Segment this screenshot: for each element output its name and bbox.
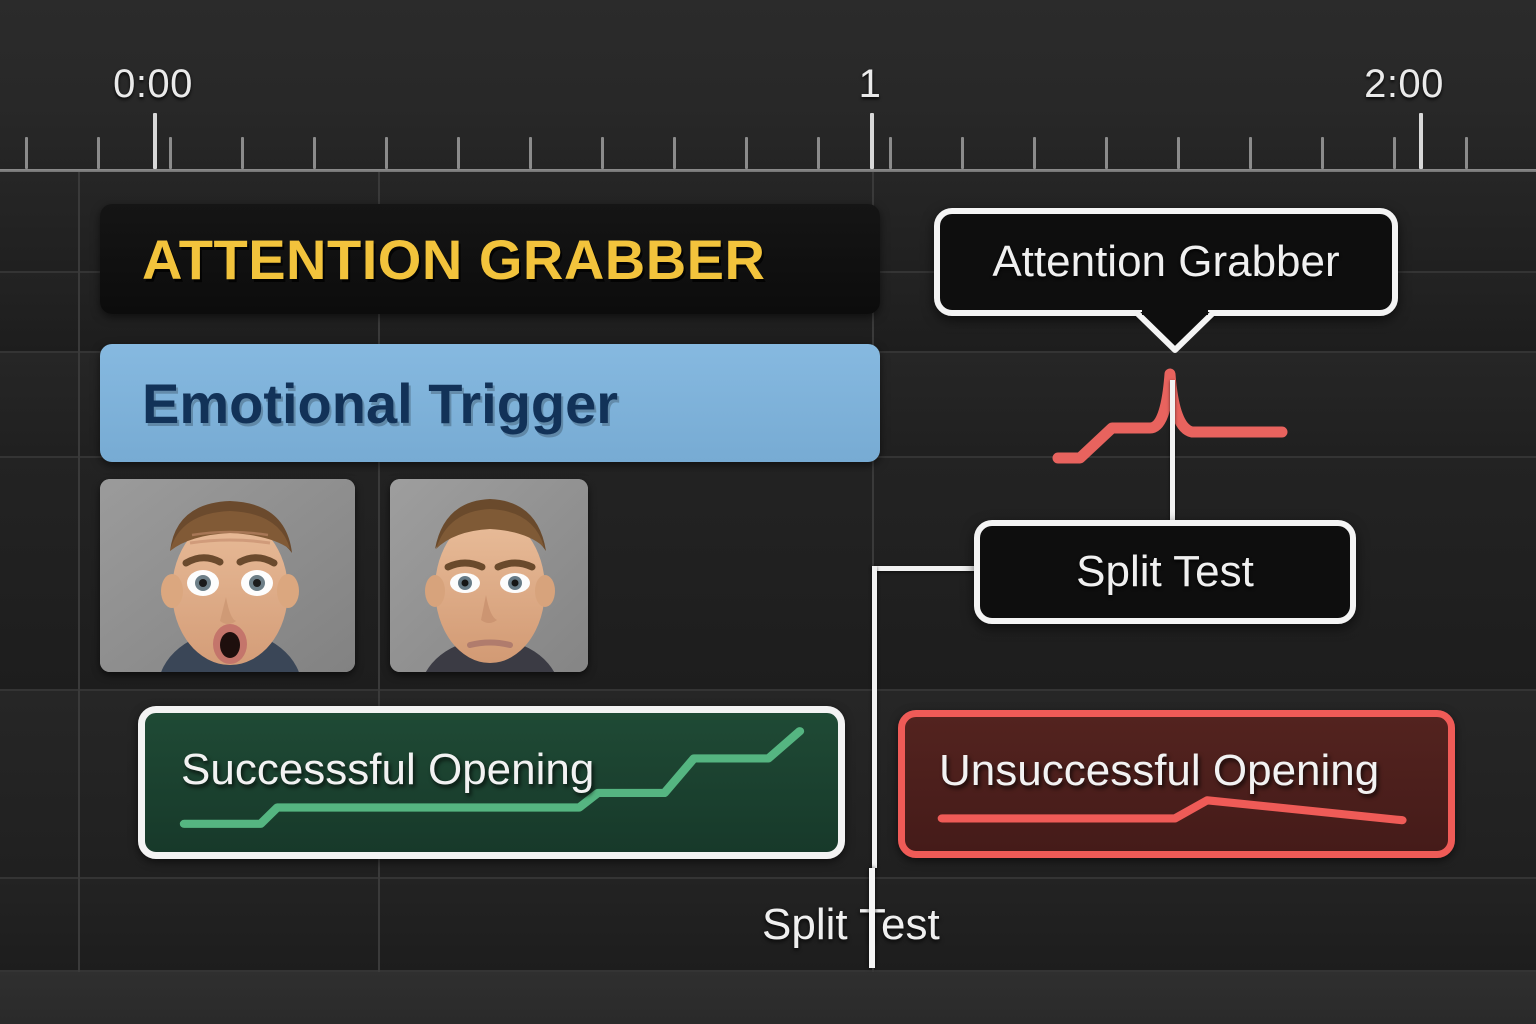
ruler-tick-minor bbox=[169, 137, 172, 169]
ruler-tick-minor bbox=[313, 137, 316, 169]
ruler-tick-minor bbox=[1321, 137, 1324, 169]
ruler-tick-minor bbox=[1105, 137, 1108, 169]
track-header-divider bbox=[78, 172, 80, 972]
ruler-tick-minor bbox=[1465, 137, 1468, 169]
clip-attention-label: ATTENTION GRABBER bbox=[100, 227, 765, 292]
ruler-tick-minor bbox=[817, 137, 820, 169]
ruler-tick-minor bbox=[961, 137, 964, 169]
thumbnail-surprised-face[interactable] bbox=[100, 479, 355, 672]
timeline-ruler[interactable]: 0:0012:00 bbox=[0, 0, 1536, 172]
marker-split-test-label: Split Test bbox=[762, 900, 940, 950]
callout-attention-label: Attention Grabber bbox=[992, 237, 1339, 287]
ruler-tick-minor bbox=[1249, 137, 1252, 169]
clip-failure-label: Unsuccessful Opening bbox=[905, 746, 1379, 796]
ruler-tick-minor bbox=[385, 137, 388, 169]
ruler-tick-minor bbox=[601, 137, 604, 169]
connector-splittest-vertical bbox=[872, 566, 877, 868]
ruler-tick-minor bbox=[1393, 137, 1396, 169]
thumbnail-neutral-face[interactable] bbox=[390, 479, 588, 672]
callout-split-label: Split Test bbox=[1076, 547, 1254, 597]
connector-spike-to-splittest bbox=[1170, 380, 1175, 520]
ruler-tick-minor bbox=[673, 137, 676, 169]
ruler-tick-minor bbox=[1033, 137, 1036, 169]
ruler-tick-major bbox=[870, 113, 874, 169]
callout-split-test[interactable]: Split Test bbox=[974, 520, 1356, 624]
timeline-footer bbox=[0, 972, 1536, 1024]
clip-success-label: Successsful Opening bbox=[145, 745, 594, 795]
ruler-tick-minor bbox=[1177, 137, 1180, 169]
ruler-label-1: 1 bbox=[859, 62, 882, 107]
ruler-tick-major bbox=[153, 113, 157, 169]
clip-emotional-label: Emotional Trigger bbox=[100, 371, 618, 436]
ruler-tick-minor bbox=[241, 137, 244, 169]
timeline-editor: 0:0012:00 ATTENTION GRABBER Emotional Tr… bbox=[0, 0, 1536, 1024]
callout-attention-grabber[interactable]: Attention Grabber bbox=[934, 208, 1398, 316]
ruler-tick-minor bbox=[25, 137, 28, 169]
playhead-marker[interactable] bbox=[869, 868, 875, 968]
clip-attention-grabber[interactable]: ATTENTION GRABBER bbox=[100, 204, 880, 314]
callout-tail-down-icon bbox=[1130, 310, 1220, 356]
ruler-label-0: 0:00 bbox=[113, 62, 193, 107]
ruler-label-2: 2:00 bbox=[1364, 62, 1444, 107]
clip-emotional-trigger[interactable]: Emotional Trigger bbox=[100, 344, 880, 462]
clip-unsuccessful-opening[interactable]: Unsuccessful Opening bbox=[898, 710, 1455, 858]
ruler-tick-minor bbox=[529, 137, 532, 169]
ruler-tick-minor bbox=[889, 137, 892, 169]
ruler-tick-minor bbox=[97, 137, 100, 169]
connector-splittest-horizontal bbox=[872, 566, 980, 571]
ruler-tick-minor bbox=[457, 137, 460, 169]
ruler-tick-minor bbox=[745, 137, 748, 169]
ruler-tick-major bbox=[1419, 113, 1423, 169]
clip-successful-opening[interactable]: Successsful Opening bbox=[138, 706, 845, 859]
